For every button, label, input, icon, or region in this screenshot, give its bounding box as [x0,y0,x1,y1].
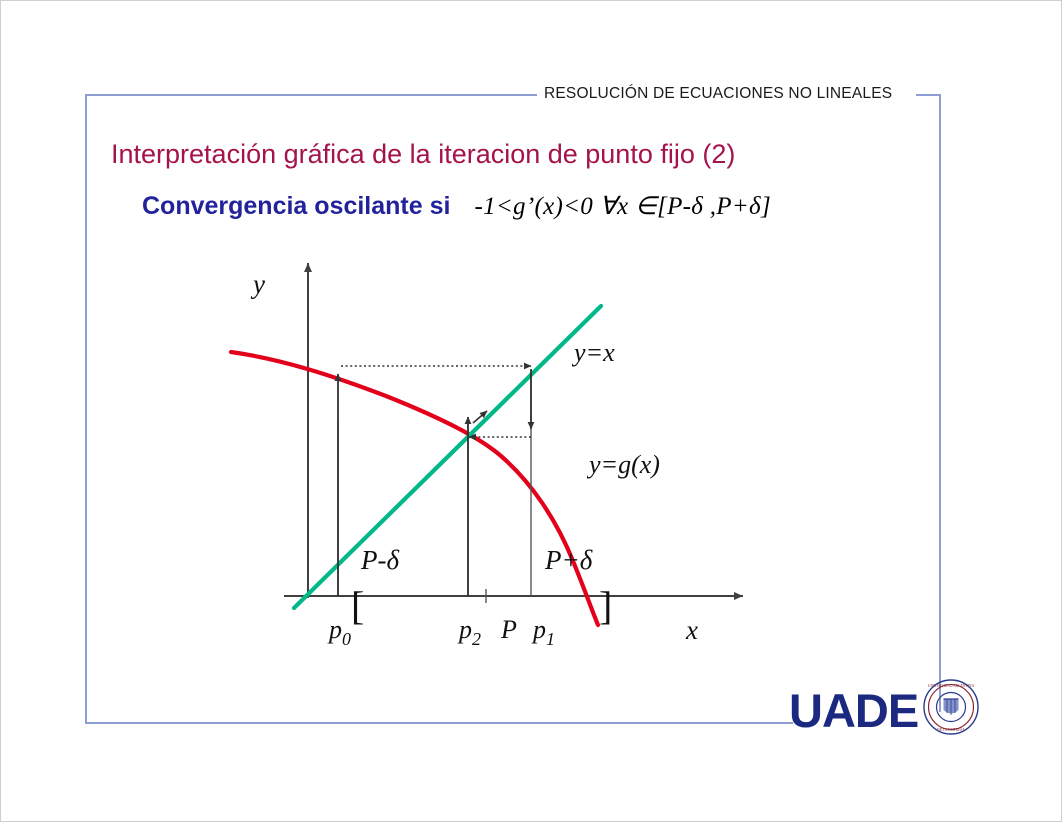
bracket-close: ] [599,583,612,628]
identity-line-label: y=x [571,338,615,367]
bracket-open: [ [351,583,364,628]
tick-label-fixed-point: P [500,615,517,644]
slide-page: RESOLUCIÓN DE ECUACIONES NO LINEALES Int… [0,0,1062,822]
frame-border-top-right [916,94,941,96]
frame-border-bottom [85,722,793,724]
tick-label-p1: p1 [531,615,555,649]
subtitle-row: Convergencia oscilante si -1<g’(x)<0 ∀x … [142,191,771,221]
g-curve-label: y=g(x) [586,450,660,479]
diagram-svg: [ ] y x y=x y=g(x) P-δ P+δ p0 p2 P p1 [211,241,771,661]
uade-logo: UADE UNIVERSIDAD ARGENTINA DE LA EMPRESA [789,680,980,741]
page-title: Interpretación gráfica de la iteracion d… [111,139,735,170]
interval-label-right: P+δ [544,545,593,575]
svg-text:UNIVERSIDAD ARGENTINA: UNIVERSIDAD ARGENTINA [928,684,975,688]
header-title: RESOLUCIÓN DE ECUACIONES NO LINEALES [544,85,892,103]
uade-wordmark: UADE [789,687,918,734]
uade-crest-seal-icon: UNIVERSIDAD ARGENTINA DE LA EMPRESA [922,678,980,741]
svg-text:DE LA EMPRESA: DE LA EMPRESA [937,728,965,732]
interval-label-left: P-δ [360,545,399,575]
frame-border-left [85,94,87,724]
condition-formula: -1<g’(x)<0 ∀x ∈[P-δ ,P+δ] [474,191,771,221]
fixed-point-iteration-diagram: [ ] y x y=x y=g(x) P-δ P+δ p0 p2 P p1 [211,241,771,661]
frame-border-top-left [85,94,537,96]
tick-label-p2: p2 [457,615,481,649]
subtitle-text: Convergencia oscilante si [142,192,450,221]
frame-border-right [939,94,941,712]
tick-label-p0: p0 [327,615,351,649]
x-axis-label: x [685,615,698,645]
y-axis-label: y [250,269,265,299]
